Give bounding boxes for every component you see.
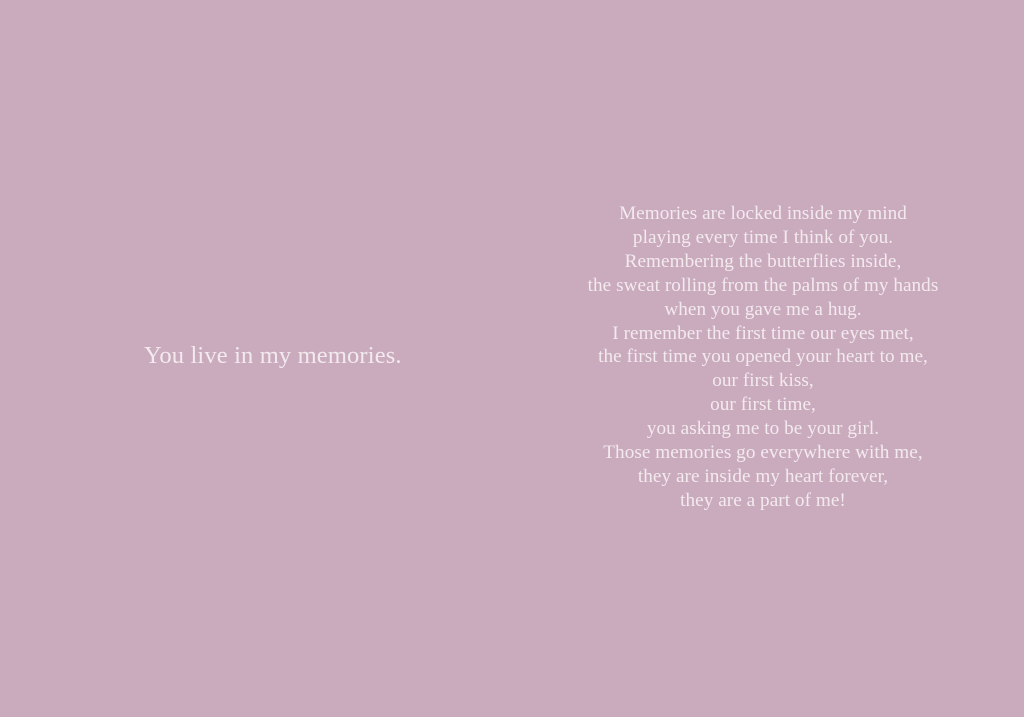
- poem-line: our first kiss,: [563, 369, 963, 393]
- poem-line: Remembering the butterflies inside,: [563, 250, 963, 274]
- page-title: You live in my memories.: [144, 341, 484, 371]
- poem-block: Memories are locked inside my mind playi…: [563, 202, 963, 513]
- poem-line: playing every time I think of you.: [563, 226, 963, 250]
- poem-line: the sweat rolling from the palms of my h…: [563, 274, 963, 298]
- poem-line: they are a part of me!: [563, 489, 963, 513]
- poem-line: Those memories go everywhere with me,: [563, 441, 963, 465]
- poster-canvas: You live in my memories. Memories are lo…: [0, 0, 1024, 717]
- poem-line: our first time,: [563, 393, 963, 417]
- poem-line: Memories are locked inside my mind: [563, 202, 963, 226]
- poem-line: they are inside my heart forever,: [563, 465, 963, 489]
- poem-line: I remember the first time our eyes met,: [563, 322, 963, 346]
- poem-line: when you gave me a hug.: [563, 298, 963, 322]
- poem-line: you asking me to be your girl.: [563, 417, 963, 441]
- poem-line: the first time you opened your heart to …: [563, 345, 963, 369]
- heading-block: You live in my memories.: [144, 341, 484, 371]
